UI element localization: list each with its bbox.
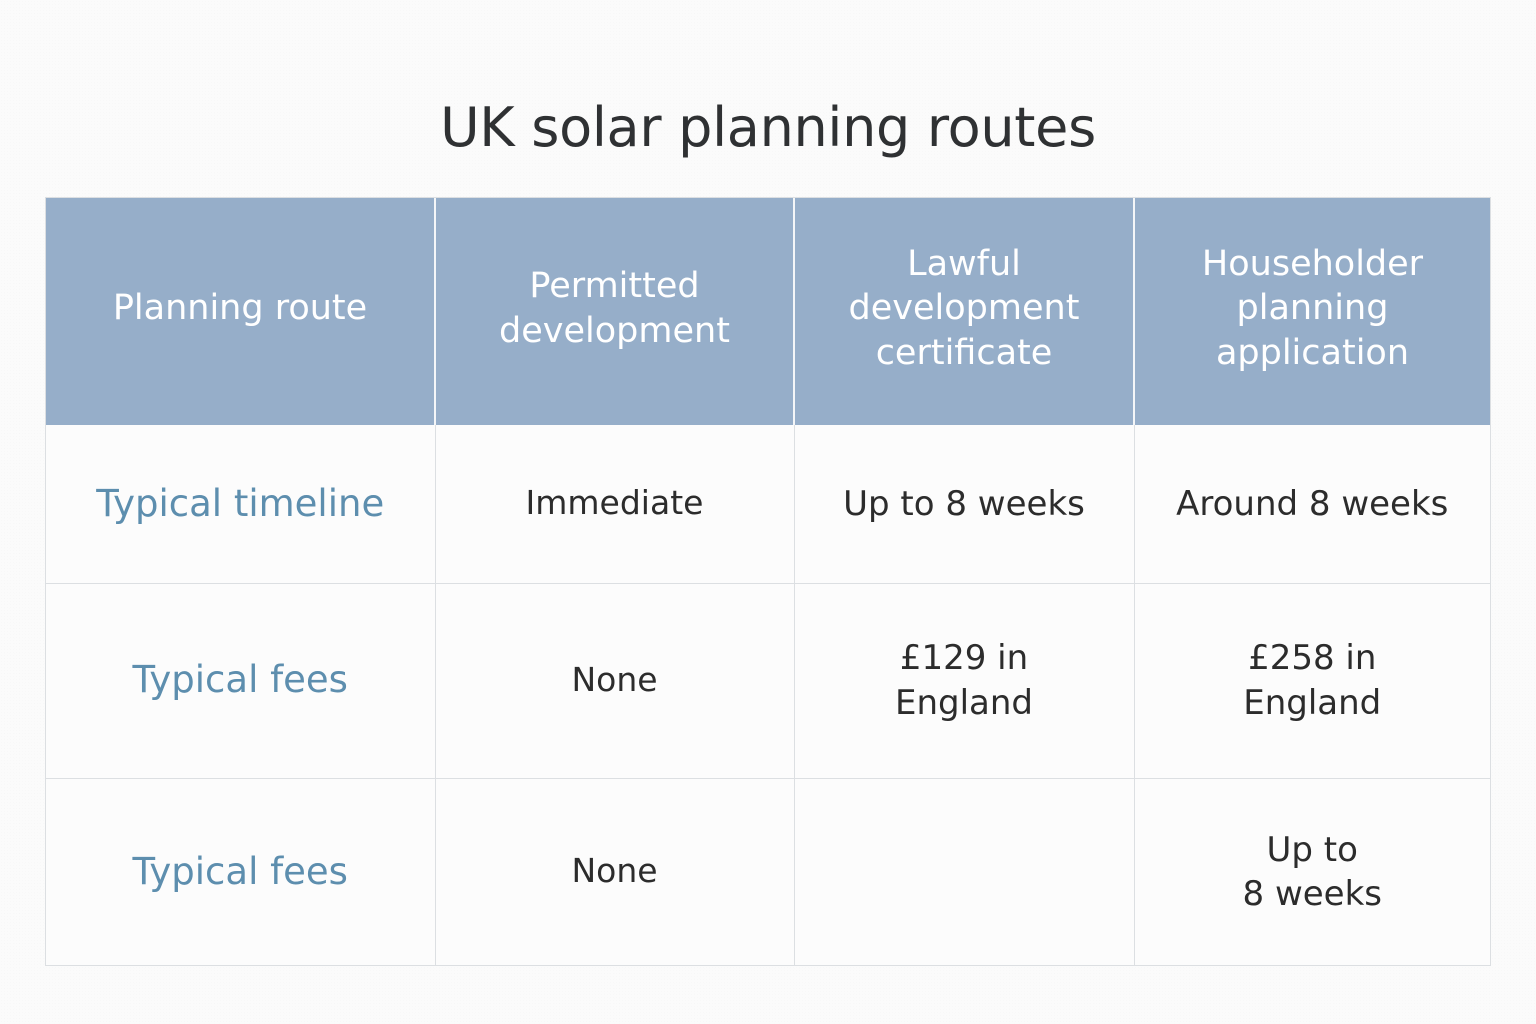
column-header-permitted-development-line1: Permitted (450, 264, 779, 308)
page-title: UK solar planning routes (0, 98, 1536, 157)
cell-fees2-hpa-line2: 8 weeks (1147, 872, 1479, 916)
column-header-ldc-line1: Lawful (809, 242, 1119, 286)
table-row: Typical timeline Immediate Up to 8 weeks… (46, 425, 1490, 583)
column-header-ldc-line2: development (809, 286, 1119, 330)
cell-fees2-lawful-development-certificate (794, 778, 1134, 965)
cell-fees2-permitted-development: None (435, 778, 794, 965)
table-row: Typical fees None £129 in England £258 i… (46, 583, 1490, 778)
cell-fees1-hpa-line2: England (1147, 681, 1479, 725)
cell-fees1-householder-planning-application: £258 in England (1134, 583, 1490, 778)
column-header-hpa-line2: planning (1149, 286, 1476, 330)
column-header-lawful-development-certificate: Lawful development certificate (794, 198, 1134, 425)
column-header-permitted-development: Permitted development (435, 198, 794, 425)
cell-timeline-lawful-development-certificate: Up to 8 weeks (794, 425, 1134, 583)
column-header-householder-planning-application: Householder planning application (1134, 198, 1490, 425)
cell-fees1-ldc-line2: England (807, 681, 1122, 725)
row-label-typical-timeline: Typical timeline (46, 425, 435, 583)
column-header-planning-route: Planning route (46, 198, 435, 425)
column-header-hpa-line1: Householder (1149, 242, 1476, 286)
cell-fees1-hpa-line1: £258 in (1147, 636, 1479, 680)
cell-fees2-householder-planning-application: Up to 8 weeks (1134, 778, 1490, 965)
table-header-row: Planning route Permitted development Law… (46, 198, 1490, 425)
planning-routes-table: Planning route Permitted development Law… (46, 198, 1490, 965)
cell-timeline-permitted-development: Immediate (435, 425, 794, 583)
column-header-permitted-development-line2: development (450, 309, 779, 353)
column-header-planning-route-line1: Planning route (60, 286, 420, 330)
row-label-typical-fees-1: Typical fees (46, 583, 435, 778)
column-header-ldc-line3: certificate (809, 331, 1119, 375)
column-header-hpa-line3: application (1149, 331, 1476, 375)
table-row: Typical fees None Up to 8 weeks (46, 778, 1490, 965)
cell-fees2-hpa-line1: Up to (1147, 828, 1479, 872)
cell-timeline-householder-planning-application: Around 8 weeks (1134, 425, 1490, 583)
cell-fees1-permitted-development: None (435, 583, 794, 778)
cell-fees1-ldc-line1: £129 in (807, 636, 1122, 680)
row-label-typical-fees-2: Typical fees (46, 778, 435, 965)
table-body: Typical timeline Immediate Up to 8 weeks… (46, 425, 1490, 965)
cell-fees1-lawful-development-certificate: £129 in England (794, 583, 1134, 778)
table-header: Planning route Permitted development Law… (46, 198, 1490, 425)
